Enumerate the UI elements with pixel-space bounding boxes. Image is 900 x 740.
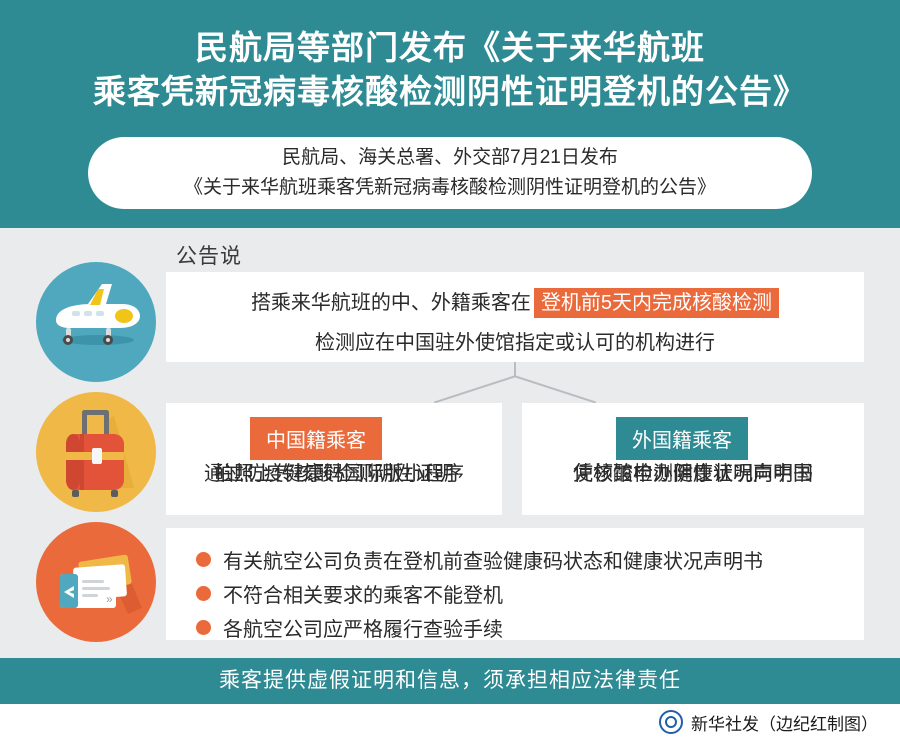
right-line-2: 使领馆申办健康状况声明书 xyxy=(522,458,864,490)
tag-foreign-passenger: 外国籍乘客 xyxy=(616,417,748,460)
luggage-badge xyxy=(36,392,156,512)
credit-inner: 新华社发（边纪红制图） xyxy=(659,704,878,740)
list-item: 不符合相关要求的乘客不能登机 xyxy=(196,577,856,609)
footer-bar: 乘客提供虚假证明和信息，须承担相应法律责任 xyxy=(0,658,900,704)
page-title: 民航局等部门发布《关于来华航班 乘客凭新冠病毒核酸检测阴性证明登机的公告》 xyxy=(0,26,900,114)
header-card-line-1: 民航局、海关总署、外交部7月21日发布 xyxy=(282,143,618,173)
footer-bar-text: 乘客提供虚假证明和信息，须承担相应法律责任 xyxy=(0,658,900,704)
section-label: 公告说 xyxy=(176,240,242,270)
header-card-line-2: 《关于来华航班乘客凭新冠病毒核酸检测阴性证明登机的公告》 xyxy=(184,173,716,203)
panel-top: 搭乘来华航班的中、外籍乘客在登机前5天内完成核酸检测 检测应在中国驻外使馆指定或… xyxy=(166,272,864,362)
list-item: 有关航空公司负责在登机前查验健康码状态和健康状况声明书 xyxy=(196,543,856,575)
bullet-dot-icon xyxy=(196,586,211,601)
footer-credit: 新华社发（边纪红制图） xyxy=(0,704,900,740)
highlight-deadline: 登机前5天内完成核酸检测 xyxy=(534,288,779,318)
header-banner: 民航局等部门发布《关于来华航班 乘客凭新冠病毒核酸检测阴性证明登机的公告》 民航… xyxy=(0,0,900,228)
bullet-list: 有关航空公司负责在登机前查验健康码状态和健康状况声明书 不符合相关要求的乘客不能… xyxy=(196,543,856,645)
header-summary-card: 民航局、海关总署、外交部7月21日发布 《关于来华航班乘客凭新冠病毒核酸检测阴性… xyxy=(88,137,812,209)
bullet-text-1: 有关航空公司负责在登机前查验健康码状态和健康状况声明书 xyxy=(223,545,763,574)
airplane-badge xyxy=(36,262,156,382)
page-title-line-2: 乘客凭新冠病毒核酸检测阴性证明登机的公告》 xyxy=(0,70,900,114)
xinhua-logo-icon xyxy=(659,710,683,734)
ticket-icon: » xyxy=(36,522,156,642)
list-item: 各航空公司应严格履行查验手续 xyxy=(196,611,856,643)
bullet-dot-icon xyxy=(196,552,211,567)
svg-text:»: » xyxy=(106,592,113,606)
top-line-1: 搭乘来华航班的中、外籍乘客在登机前5天内完成核酸检测 xyxy=(166,286,864,315)
suitcase-icon xyxy=(36,392,156,512)
bullet-text-2: 不符合相关要求的乘客不能登机 xyxy=(223,579,503,608)
top-line-1-text: 搭乘来华航班的中、外籍乘客在 xyxy=(251,292,531,314)
infographic-poster: 民航局等部门发布《关于来华航班 乘客凭新冠病毒核酸检测阴性证明登机的公告》 民航… xyxy=(0,0,900,740)
left-line-2: 拍照上传核酸检测阴性证明 xyxy=(166,458,502,490)
top-line-2: 检测应在中国驻外使馆指定或认可的机构进行 xyxy=(166,326,864,355)
connector-stem xyxy=(514,362,516,376)
page-title-line-1: 民航局等部门发布《关于来华航班 xyxy=(195,29,705,66)
bullet-dot-icon xyxy=(196,620,211,635)
bullet-text-3: 各航空公司应严格履行查验手续 xyxy=(223,613,503,642)
boarding-pass-badge: » xyxy=(36,522,156,642)
airplane-icon xyxy=(36,262,156,382)
tag-chinese-passenger: 中国籍乘客 xyxy=(250,417,382,460)
credit-text: 新华社发（边纪红制图） xyxy=(691,710,878,735)
